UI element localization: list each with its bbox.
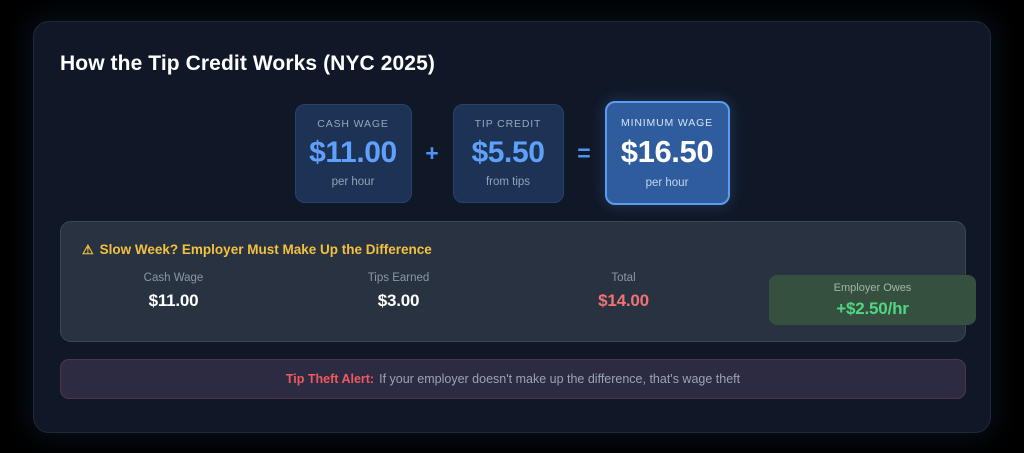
stat-label: Total — [511, 272, 736, 284]
wage-card-tip-credit[interactable]: TIP CREDIT $5.50 from tips — [453, 104, 564, 203]
employer-owes-box: Employer Owes +$2.50/hr — [769, 275, 976, 325]
stat-label: Tips Earned — [286, 272, 511, 284]
stat-value: $11.00 — [61, 291, 286, 311]
stat-total: Total $14.00 — [511, 272, 736, 311]
stat-value: $14.00 — [511, 291, 736, 311]
tip-credit-panel: How the Tip Credit Works (NYC 2025) CASH… — [33, 21, 991, 433]
alert-message: If your employer doesn't make up the dif… — [379, 372, 740, 386]
alert-title: Tip Theft Alert: — [286, 372, 374, 386]
equals-operator-icon: = — [564, 142, 605, 165]
wage-card-label: TIP CREDIT — [475, 118, 542, 130]
employer-owes-value: +$2.50/hr — [836, 299, 908, 319]
stat-value: $3.00 — [286, 291, 511, 311]
wage-card-value: $16.50 — [621, 136, 713, 169]
wage-card-sublabel: from tips — [486, 176, 530, 188]
wage-card-cash-wage[interactable]: CASH WAGE $11.00 per hour — [295, 104, 412, 203]
employer-owes-label: Employer Owes — [834, 282, 912, 294]
stat-label: Cash Wage — [61, 272, 286, 284]
page-title: How the Tip Credit Works (NYC 2025) — [60, 52, 435, 76]
wage-breakdown-stats: Cash Wage $11.00 Tips Earned $3.00 Total… — [61, 272, 736, 311]
stat-cash-wage: Cash Wage $11.00 — [61, 272, 286, 311]
wage-card-value: $11.00 — [309, 137, 397, 169]
plus-operator-icon: + — [412, 142, 453, 165]
wage-card-minimum-wage[interactable]: MINIMUM WAGE $16.50 per hour — [605, 101, 730, 205]
wage-card-sublabel: per hour — [646, 177, 689, 189]
tip-theft-alert-bar: Tip Theft Alert: If your employer doesn'… — [60, 359, 966, 399]
tip-credit-equation: CASH WAGE $11.00 per hour + TIP CREDIT $… — [34, 98, 990, 208]
warning-heading: ⚠ Slow Week? Employer Must Make Up the D… — [82, 242, 432, 257]
warning-triangle-icon: ⚠ — [82, 243, 94, 256]
wage-card-value: $5.50 — [471, 137, 544, 169]
slow-week-warning-panel: ⚠ Slow Week? Employer Must Make Up the D… — [60, 221, 966, 342]
wage-card-label: MINIMUM WAGE — [621, 117, 713, 129]
stat-tips-earned: Tips Earned $3.00 — [286, 272, 511, 311]
warning-heading-text: Slow Week? Employer Must Make Up the Dif… — [100, 242, 432, 257]
screenshot-stage: How the Tip Credit Works (NYC 2025) CASH… — [0, 0, 1024, 453]
wage-card-sublabel: per hour — [332, 176, 375, 188]
wage-card-label: CASH WAGE — [317, 118, 388, 130]
